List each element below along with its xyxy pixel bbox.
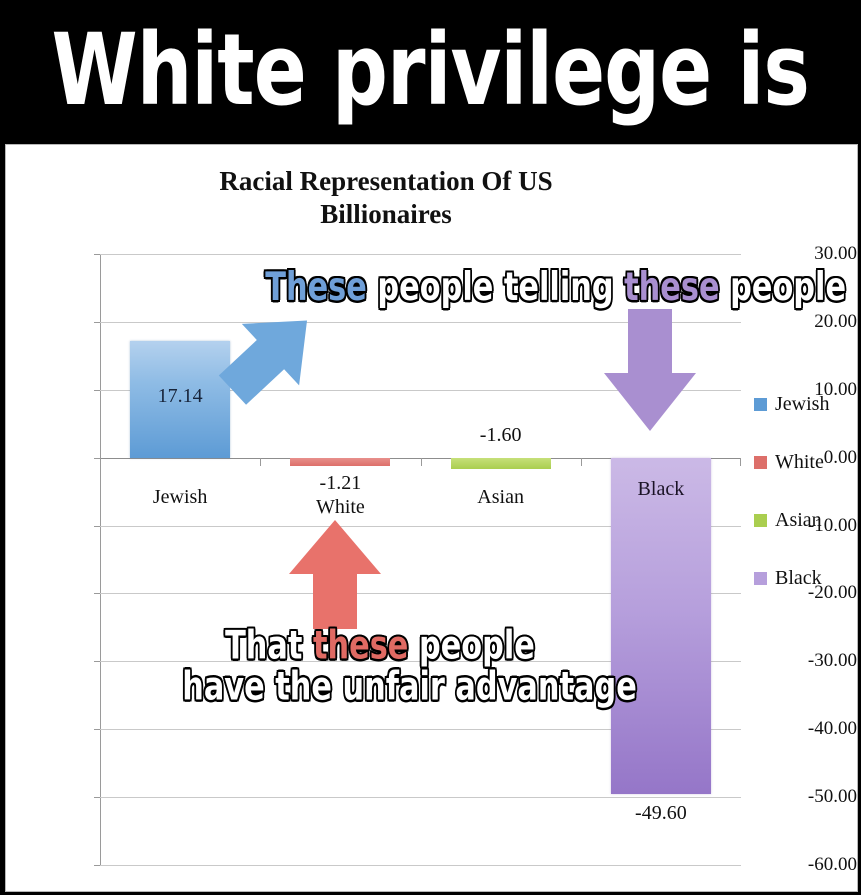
- caption-top: These people telling these people: [265, 267, 846, 308]
- gridline: [100, 865, 741, 866]
- caption-top-part2: people telling: [377, 263, 613, 310]
- chart-legend: JewishWhiteAsianBlack: [754, 375, 850, 607]
- category-label-jewish: Jewish: [110, 486, 250, 509]
- x-tick-mark: [740, 458, 741, 466]
- chart-title-line2: Billionaires: [66, 198, 706, 231]
- legend-item-jewish[interactable]: Jewish: [754, 375, 850, 433]
- caption-bottom-line1-part3: people: [419, 622, 535, 669]
- chart-title-line1: Racial Representation Of US: [66, 165, 706, 198]
- category-label-asian: Asian: [431, 486, 571, 509]
- x-tick-mark: [100, 458, 101, 466]
- legend-label: White: [775, 451, 824, 474]
- value-label-white: -1.21: [280, 472, 400, 495]
- y-tick-label: 30.00: [769, 243, 857, 265]
- value-label-black: -49.60: [591, 802, 731, 825]
- arrow-down-icon: [600, 305, 700, 433]
- caption-bottom: That these people have the unfair advant…: [182, 625, 578, 707]
- x-tick-mark: [260, 458, 261, 466]
- caption-bottom-line1: That these people: [182, 625, 578, 666]
- y-tick-label: -30.00: [769, 650, 857, 672]
- chart-title: Racial Representation Of US Billionaires: [66, 165, 706, 231]
- bar-white[interactable]: [290, 458, 390, 466]
- x-tick-mark: [581, 458, 582, 466]
- legend-swatch-icon: [754, 398, 767, 411]
- legend-item-black[interactable]: Black: [754, 549, 850, 607]
- caption-top-part1: These: [265, 263, 367, 310]
- chart-panel: Racial Representation Of US Billionaires…: [5, 144, 858, 892]
- legend-label: Asian: [775, 509, 822, 532]
- caption-bottom-line2: have the unfair advantage: [182, 666, 578, 707]
- legend-swatch-icon: [754, 456, 767, 469]
- meme-top-banner: White privilege is: [0, 0, 861, 140]
- caption-top-part4: people: [730, 263, 846, 310]
- y-tick-label: -60.00: [769, 854, 857, 876]
- arrow-up-icon: [285, 516, 385, 631]
- caption-bottom-line1-part1: That: [225, 622, 302, 669]
- legend-swatch-icon: [754, 572, 767, 585]
- legend-item-asian[interactable]: Asian: [754, 491, 850, 549]
- caption-bottom-line2-text: have the unfair advantage: [182, 663, 637, 710]
- bar-asian[interactable]: [451, 458, 551, 469]
- y-tick-label: -40.00: [769, 718, 857, 740]
- arrow-down-left-icon: [197, 296, 342, 416]
- bar-black[interactable]: Black: [611, 458, 711, 795]
- x-tick-mark: [421, 458, 422, 466]
- y-tick-label: 20.00: [769, 311, 857, 333]
- bar-inner-label-black: Black: [611, 478, 711, 501]
- banner-text: White privilege is: [52, 20, 809, 119]
- legend-item-white[interactable]: White: [754, 433, 850, 491]
- meme-image: White privilege is Racial Representation…: [0, 0, 861, 895]
- y-tick-label: -50.00: [769, 786, 857, 808]
- value-label-asian: -1.60: [441, 424, 561, 447]
- legend-swatch-icon: [754, 514, 767, 527]
- caption-top-part3: these: [624, 263, 719, 310]
- legend-label: Black: [775, 567, 822, 590]
- legend-label: Jewish: [775, 393, 829, 416]
- caption-bottom-line1-part2: these: [313, 622, 408, 669]
